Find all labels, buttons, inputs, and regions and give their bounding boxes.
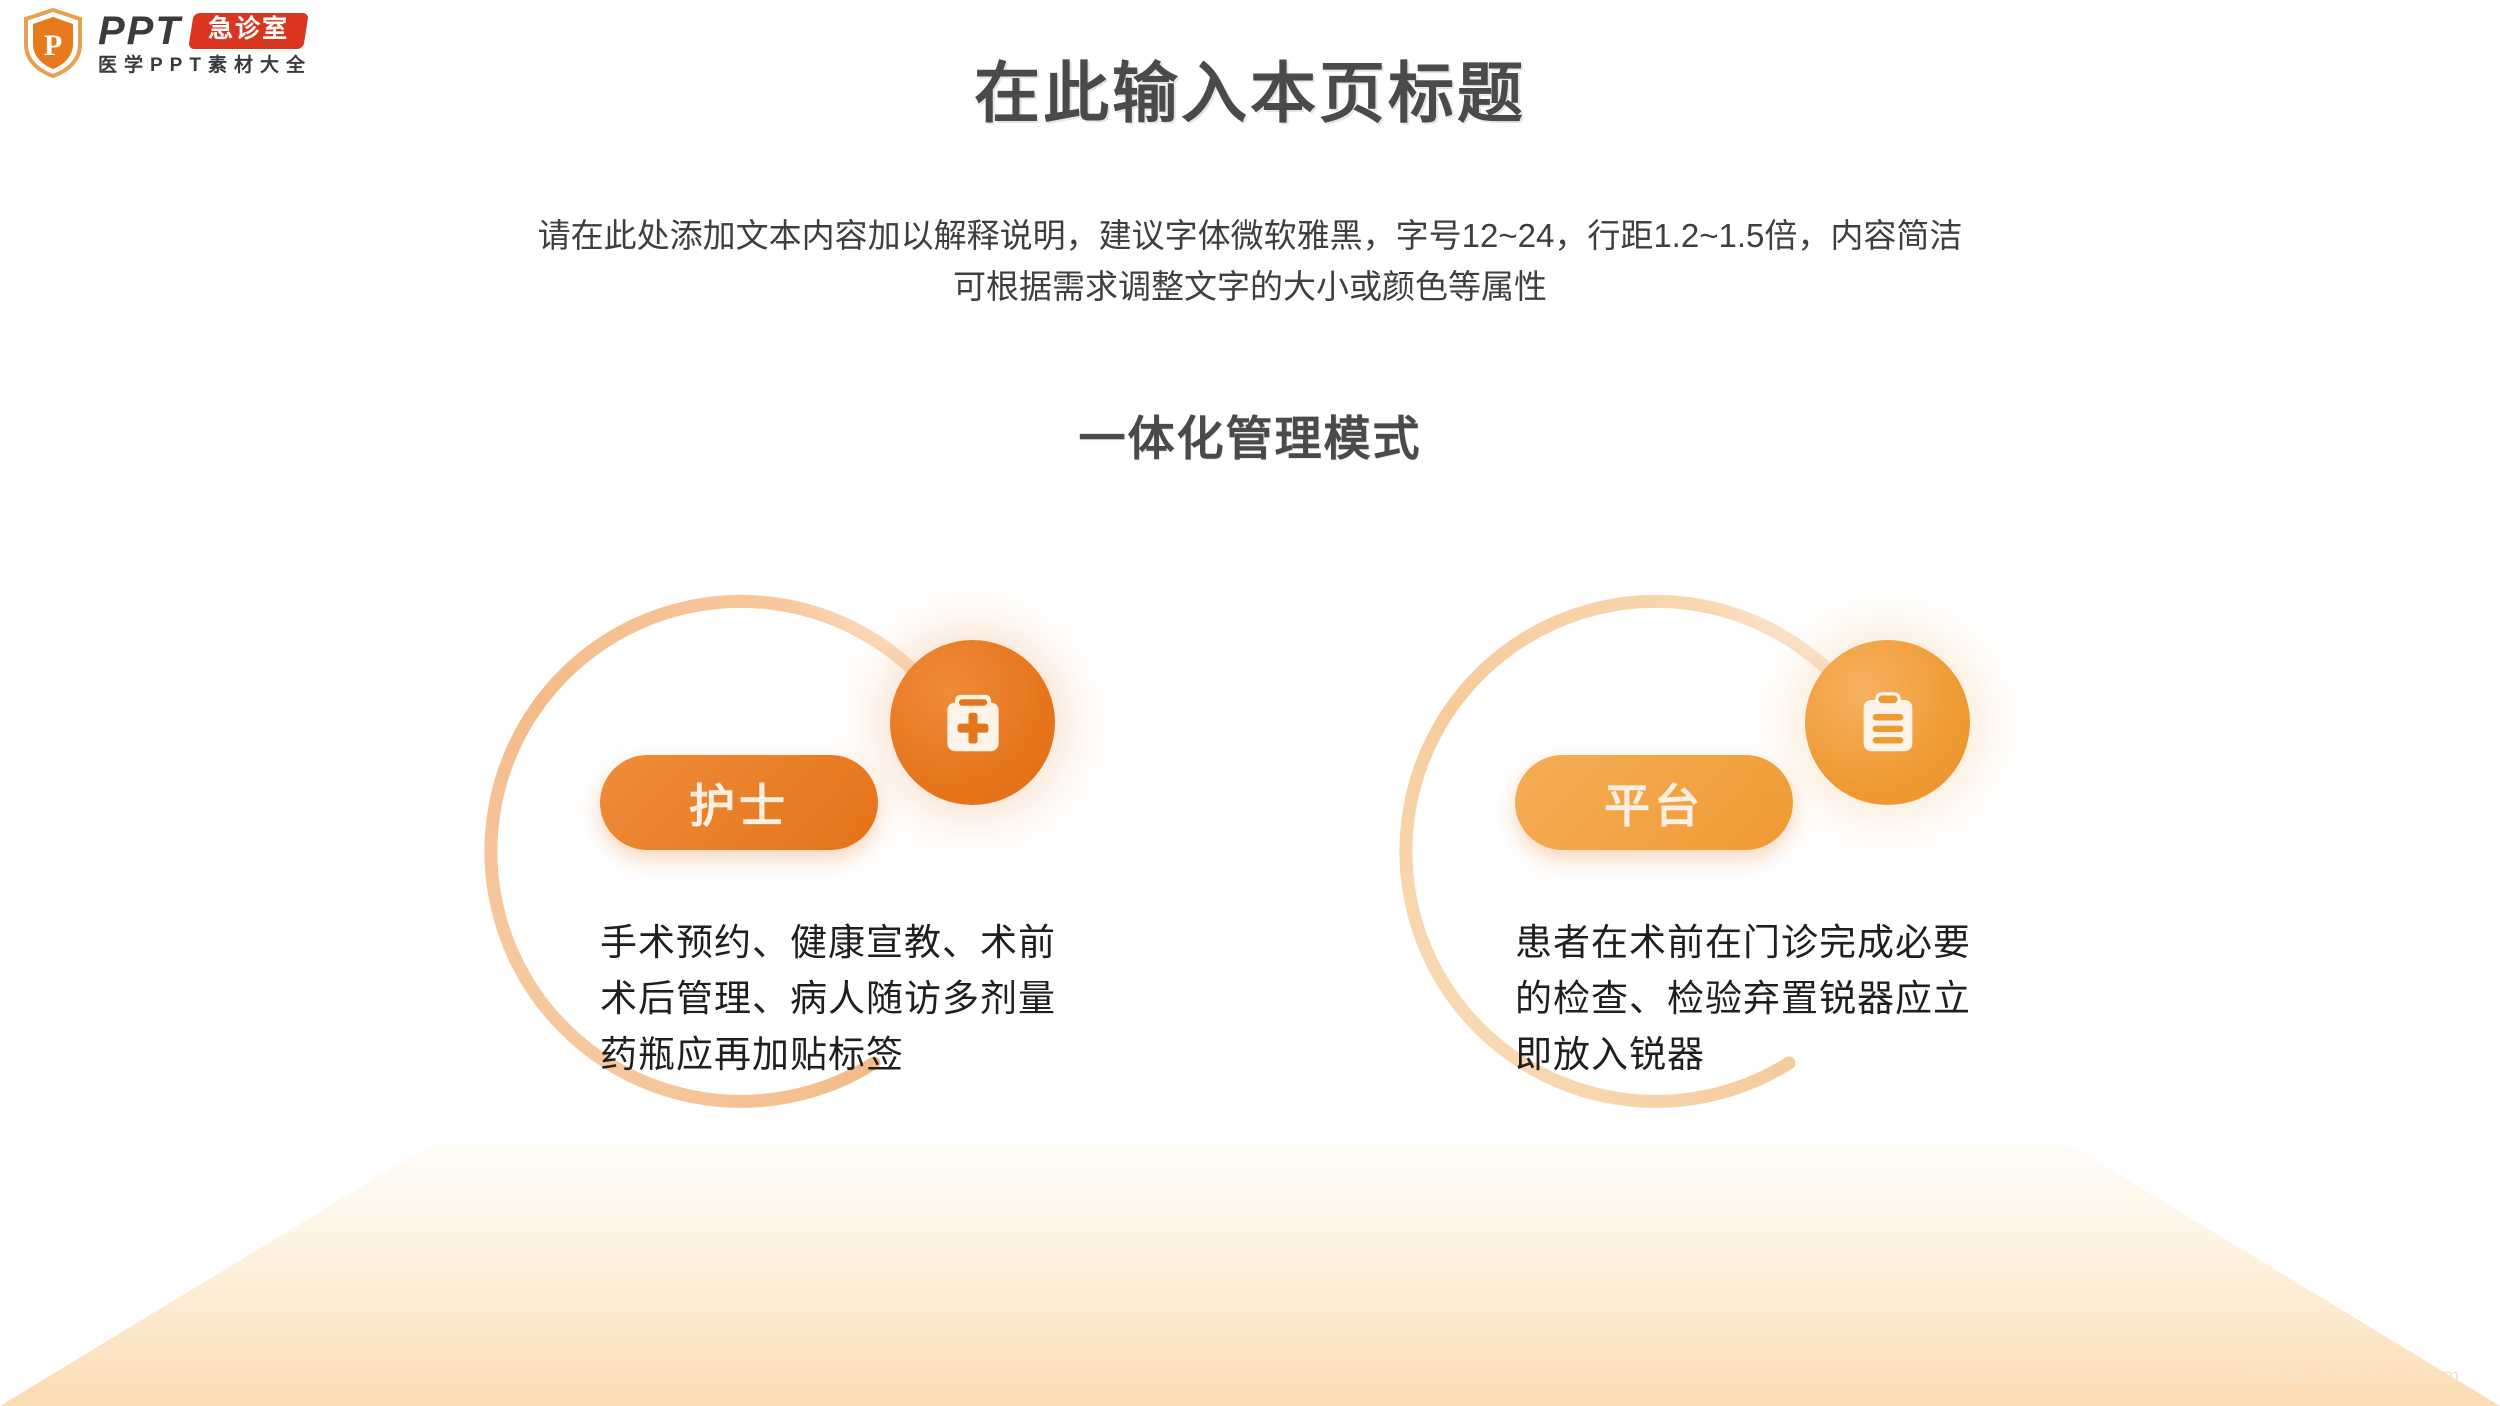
group-nurse: 护士 手术预约、健康宣教、术前术后管理、病人随访多剂量药瓶应再加贴标签 <box>470 585 1150 1145</box>
logo-wordmark: PPT 急诊室 医学PPT素材大全 <box>98 11 312 75</box>
clipboard-icon <box>1805 640 1970 805</box>
logo-brand-text: PPT <box>98 11 182 51</box>
page-subtitle: 请在此处添加文本内容加以解释说明，建议字体微软雅黑，字号12~24，行距1.2~… <box>250 210 2250 312</box>
svg-text:P: P <box>44 29 62 62</box>
medical-kit-icon <box>890 640 1055 805</box>
subtitle-line-1: 请在此处添加文本内容加以解释说明，建议字体微软雅黑，字号12~24，行距1.2~… <box>250 210 2250 261</box>
subtitle-line-2: 可根据需求调整文字的大小或颜色等属性 <box>250 261 2250 312</box>
body-text-nurse: 手术预约、健康宣教、术前术后管理、病人随访多剂量药瓶应再加贴标签 <box>600 915 1070 1084</box>
logo-tagline: 医学PPT素材大全 <box>98 56 312 75</box>
badge-platform[interactable]: 平台 <box>1515 755 1793 850</box>
section-title: 一体化管理模式 <box>0 400 2500 469</box>
watermark: www.ppter.com <box>2246 1366 2466 1388</box>
group-platform: 平台 患者在术前在门诊完成必要的检查、检验弃置锐器应立即放入锐器 <box>1385 585 2065 1145</box>
logo-badge-text: 急诊室 <box>208 16 289 44</box>
logo-top-row: PPT 急诊室 <box>98 11 312 51</box>
logo-badge: 急诊室 <box>188 13 309 49</box>
badge-nurse[interactable]: 护士 <box>600 755 878 850</box>
shield-icon: P <box>22 8 84 78</box>
slide-canvas: www.ppter.com P PPT 急诊室 医学PPT素材大全 在此输入本页… <box>0 0 2500 1406</box>
page-title: 在此输入本页标题 <box>0 40 2500 136</box>
brand-logo: P PPT 急诊室 医学PPT素材大全 <box>22 8 312 78</box>
body-text-platform: 患者在术前在门诊完成必要的检查、检验弃置锐器应立即放入锐器 <box>1515 915 1985 1084</box>
floor-platform <box>0 1145 2500 1406</box>
